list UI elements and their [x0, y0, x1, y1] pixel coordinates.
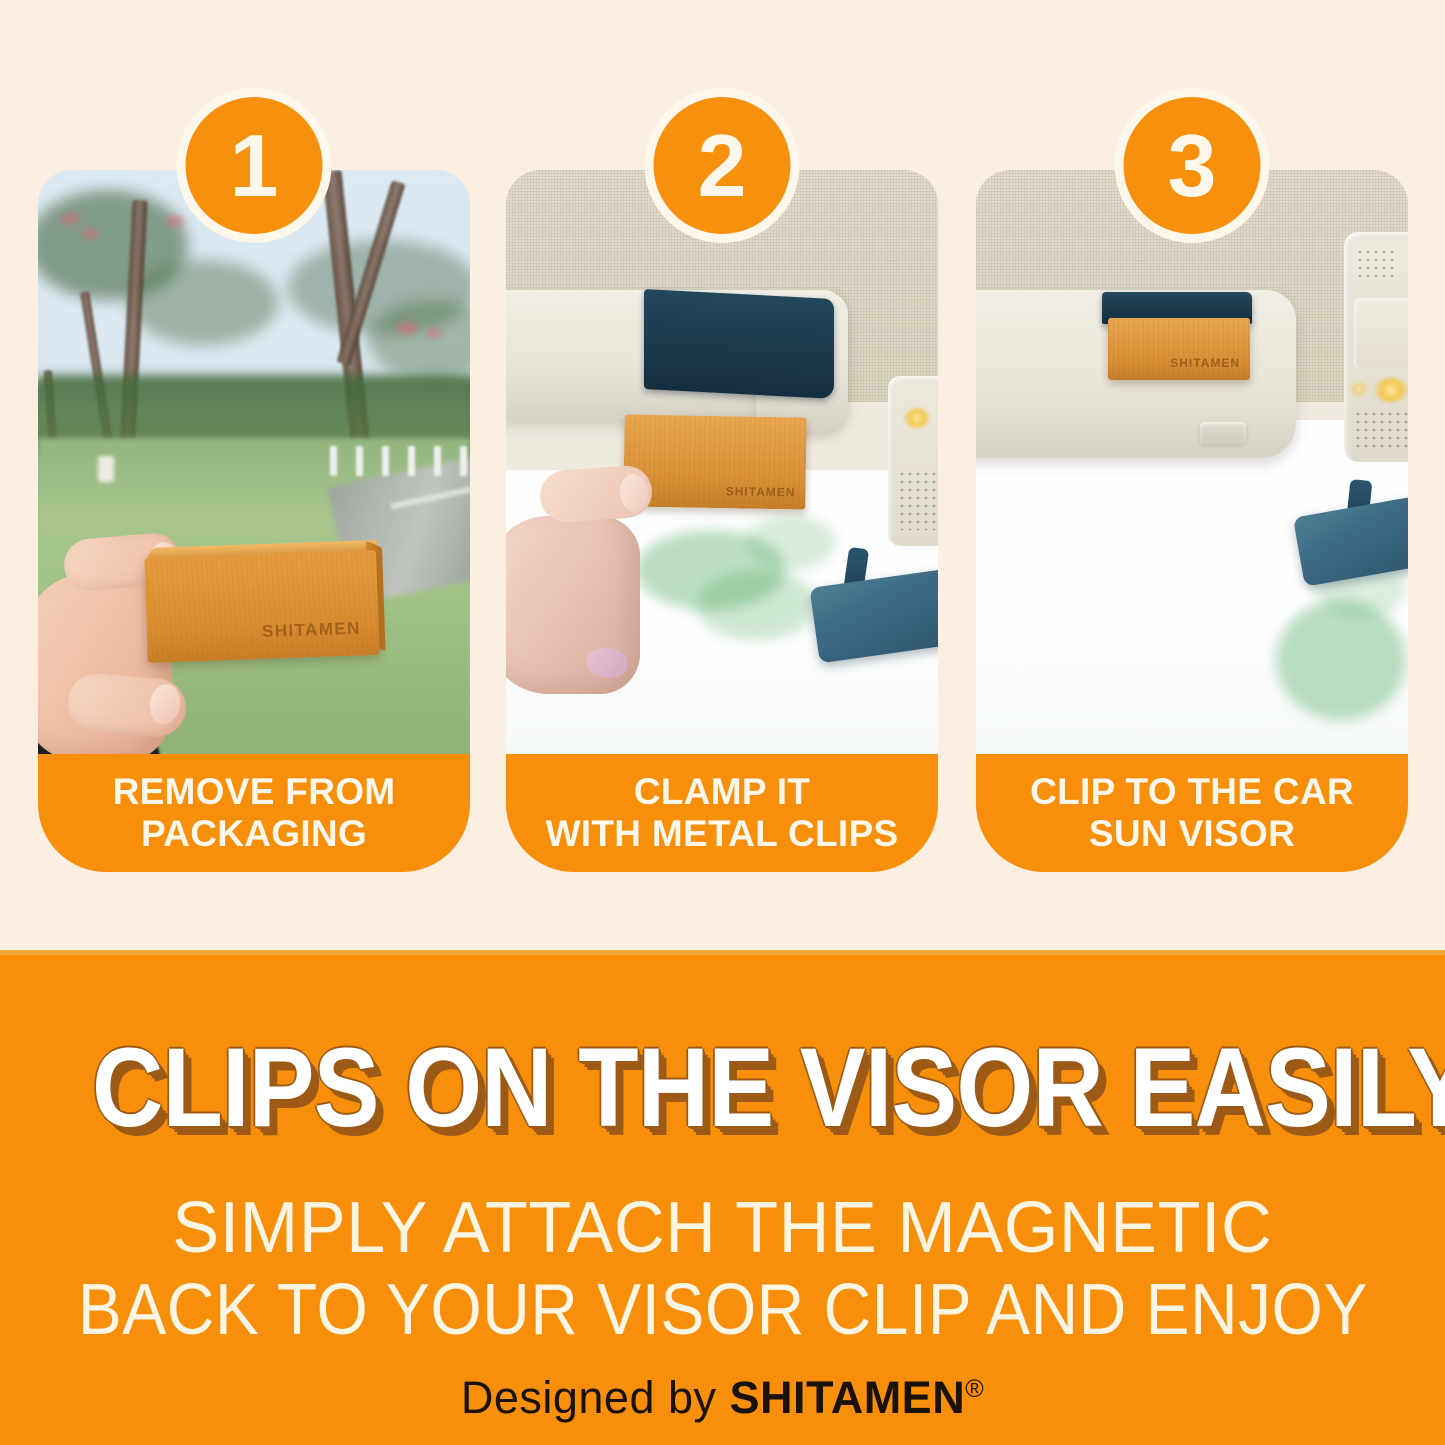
foliage-blur: [128, 260, 278, 345]
blossom: [60, 212, 80, 225]
step-label-2: CLAMP IT WITH METAL CLIPS: [506, 754, 938, 872]
step-label-1-line1: REMOVE FROM: [113, 771, 396, 812]
blossom: [396, 322, 418, 335]
step-label-1: REMOVE FROM PACKAGING: [38, 754, 470, 872]
step-number-badge-2: 2: [654, 97, 791, 234]
hand: [506, 466, 674, 696]
step-number-badge-1: 1: [186, 97, 323, 234]
dome-lamp: [1374, 378, 1408, 402]
step-label-2-line2: WITH METAL CLIPS: [546, 813, 899, 854]
foliage-through-windshield: [696, 570, 816, 640]
fence-posts: [330, 446, 470, 482]
product-brand-engraving: SHITAMEN: [1170, 356, 1240, 370]
banner-subline-1: SIMPLY ATTACH THE MAGNETIC: [0, 1192, 1445, 1264]
wooden-product-block: SHITAMEN: [144, 550, 380, 668]
designed-by-footer: Designed by SHITAMEN®: [0, 1372, 1445, 1424]
speaker-grille-icon: [898, 470, 938, 530]
product-brand-engraving: SHITAMEN: [262, 619, 361, 642]
designed-by-prefix: Designed by: [461, 1372, 730, 1423]
step-label-3-line2: SUN VISOR: [1089, 813, 1295, 854]
console-panel: [1354, 298, 1408, 368]
designed-by-brand: SHITAMEN: [730, 1372, 966, 1423]
step-1-photo: SHITAMEN: [38, 170, 470, 758]
blossom: [426, 328, 442, 338]
step-label-3-line1: CLIP TO THE CAR: [1030, 771, 1354, 812]
foliage-through-windshield: [746, 515, 836, 570]
step-card-2: SHITAMEN 2 CLAMP IT WITH METAL CLIPS: [506, 170, 938, 870]
visor-hook: [1200, 422, 1246, 444]
banner-subline-2: BACK TO YOUR VISOR CLIP AND ENJOY: [0, 1274, 1445, 1346]
banner-headline: CLIPS ON THE VISOR EASILY: [0, 1032, 1445, 1144]
step-label-2-line1: CLAMP IT: [634, 771, 810, 812]
infographic-page: SHITAMEN 1 REMOVE FROM PACKAGING: [0, 0, 1445, 1445]
foliage-through-windshield: [1276, 600, 1406, 720]
product-brand-engraving: SHITAMEN: [726, 484, 796, 499]
step-label-1-line2: PACKAGING: [141, 813, 367, 854]
dome-lamp: [904, 408, 930, 428]
dome-lamp: [1350, 382, 1368, 396]
step-label-3: CLIP TO THE CAR SUN VISOR: [976, 754, 1408, 872]
registered-trademark-icon: ®: [965, 1375, 984, 1403]
wooden-product-block: SHITAMEN: [1108, 318, 1250, 380]
steps-section: SHITAMEN 1 REMOVE FROM PACKAGING: [0, 0, 1445, 950]
step-number-badge-3: 3: [1124, 97, 1261, 234]
step-card-1: SHITAMEN 1 REMOVE FROM PACKAGING: [38, 170, 470, 870]
step-2-photo: SHITAMEN: [506, 170, 938, 758]
white-post: [98, 456, 114, 482]
step-card-3: SHITAMEN 3 CLIP TO THE CAR SUN VISOR: [976, 170, 1408, 870]
speaker-grille-icon: [1354, 410, 1408, 452]
visor-metal-clip: [644, 289, 834, 399]
blossom: [82, 228, 98, 239]
step-3-photo: SHITAMEN: [976, 170, 1408, 758]
blossom: [166, 215, 184, 227]
speaker-grille-icon: [1356, 248, 1398, 280]
